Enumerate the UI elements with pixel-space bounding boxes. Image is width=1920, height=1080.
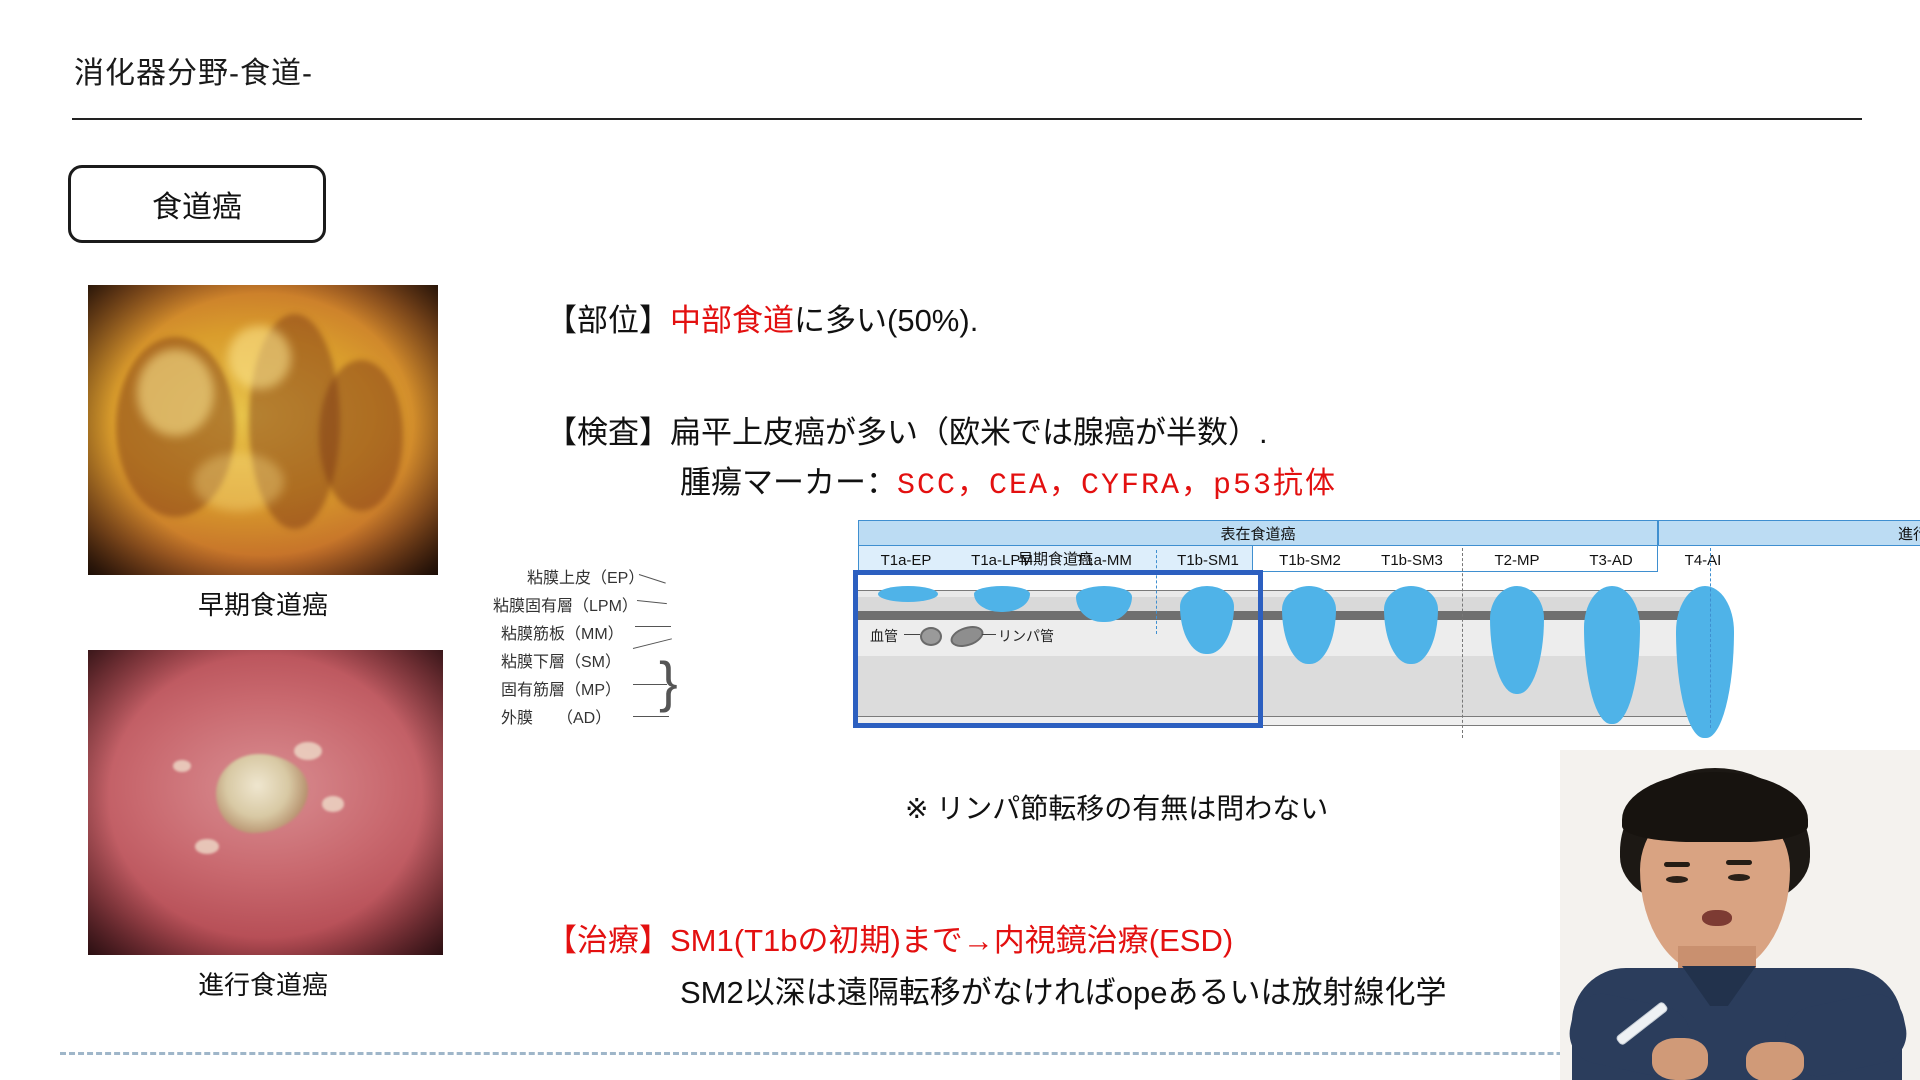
stage-label-t4-ai: T4-AI (1656, 552, 1750, 569)
treatment-text: SM1(T1bの初期)まで→内視鏡治療(ESD) (670, 923, 1233, 958)
stage-label-t2-mp: T2-MP (1470, 552, 1564, 569)
diagram-footnote: ※ リンパ節転移の有無は問わない (905, 790, 1328, 828)
photo-vignette (88, 285, 438, 575)
topic-badge: 食道癌 (68, 165, 326, 243)
site-label: 【部位】 (546, 303, 670, 338)
layer-label-lpm: 粘膜固有層（LPM） (493, 592, 638, 616)
exam-line-2: 腫瘍マーカー：SCC，CEA，CYFRA，p53抗体 (680, 462, 1337, 507)
divider-superficial-advanced (1462, 548, 1463, 738)
treatment-line-1: 【治療】SM1(T1bの初期)まで→内視鏡治療(ESD) (546, 920, 1233, 962)
band-superficial-cancer: 表在食道癌 (858, 520, 1658, 546)
layer-label-ad: 外膜 （AD） (501, 704, 611, 728)
tumor-marker-values: SCC，CEA，CYFRA，p53抗体 (897, 469, 1337, 503)
esophagus-cross-section: 血管 リンパ管 T1a-EP T1a-LPM T1a-MM T1b-SM1 T1… (858, 572, 1713, 732)
leader-ad (633, 716, 669, 717)
layer-label-ep: 粘膜上皮（EP） (527, 564, 644, 588)
presenter-brow-left (1664, 862, 1690, 867)
title-divider (72, 118, 1862, 120)
exam-text: 扁平上皮癌が多い（欧米では腺癌が半数）. (670, 415, 1268, 450)
leader-lpm (637, 600, 667, 604)
photo-vignette (88, 650, 443, 955)
divider-right-edge (1710, 548, 1711, 728)
topic-label: 食道癌 (152, 182, 242, 226)
blood-vessel-icon (920, 627, 942, 646)
stage-label-t1a-ep: T1a-EP (858, 552, 954, 569)
vessel-label: 血管 (870, 626, 898, 646)
invasion-depth-diagram: 表在食道癌 進行食道癌 早期食道癌 血管 リンパ管 T1a-EP T1a- (645, 520, 1725, 780)
tumor-t1a-ep (878, 586, 938, 602)
early-cancer-photo (88, 285, 438, 575)
stage-label-t1b-sm3: T1b-SM3 (1360, 552, 1464, 569)
layer-label-mp: 固有筋層（MP） (501, 676, 621, 700)
layer-ad (858, 716, 1713, 726)
presenter-eye-left (1666, 876, 1688, 883)
lymph-label: リンパ管 (998, 626, 1054, 646)
presenter-mouth (1702, 910, 1732, 926)
site-highlight: 中部食道 (670, 303, 794, 338)
stage-label-t1a-mm: T1a-MM (1054, 552, 1154, 569)
tumor-marker-label: 腫瘍マーカー： (680, 465, 897, 500)
advanced-cancer-photo (88, 650, 443, 955)
layer-label-sm: 粘膜下層（SM） (501, 648, 621, 672)
lymph-leader (982, 634, 996, 635)
presenter-hand-right (1746, 1042, 1804, 1080)
vessel-leader (904, 634, 920, 635)
stage-label-t1b-sm1: T1b-SM1 (1156, 552, 1260, 569)
site-rest: に多い(50%). (794, 303, 978, 338)
presenter-video-overlay[interactable] (1560, 750, 1920, 1080)
exam-label: 【検査】 (546, 415, 670, 450)
exam-line-1: 【検査】扁平上皮癌が多い（欧米では腺癌が半数）. (546, 412, 1268, 454)
presenter-brow-right (1726, 860, 1752, 865)
band-advanced-label: 進行食道癌 (1898, 523, 1920, 544)
stage-label-t1b-sm2: T1b-SM2 (1258, 552, 1362, 569)
presenter-hand-left (1652, 1038, 1708, 1080)
mp-ad-brace: } (659, 654, 678, 710)
band-superficial-label: 表在食道癌 (1220, 523, 1295, 544)
leader-mm (635, 626, 671, 627)
treatment-label: 【治療】 (546, 923, 670, 958)
divider-sm1-dashed (1156, 550, 1157, 634)
band-advanced-cancer: 進行食道癌 (1658, 520, 1920, 546)
early-photo-caption: 早期食道癌 (83, 585, 443, 622)
layer-mp (858, 656, 1713, 716)
treatment-line-2: SM2以深は遠隔転移がなければopeあるいは放射線化学 (680, 972, 1446, 1014)
stage-label-t3-ad: T3-AD (1564, 552, 1658, 569)
stage-label-t1a-lpm: T1a-LPM (950, 552, 1054, 569)
leader-sm (633, 638, 672, 649)
page-title: 消化器分野-食道- (74, 48, 313, 92)
layer-label-mm: 粘膜筋板（MM） (501, 620, 624, 644)
slide-root: 消化器分野-食道- 食道癌 早期食道癌 進行食道癌 【部位】中部食道に多い(50… (0, 0, 1920, 1080)
site-line: 【部位】中部食道に多い(50%). (546, 300, 978, 342)
advanced-photo-caption: 進行食道癌 (83, 965, 443, 1002)
presenter-eye-right (1728, 874, 1750, 881)
